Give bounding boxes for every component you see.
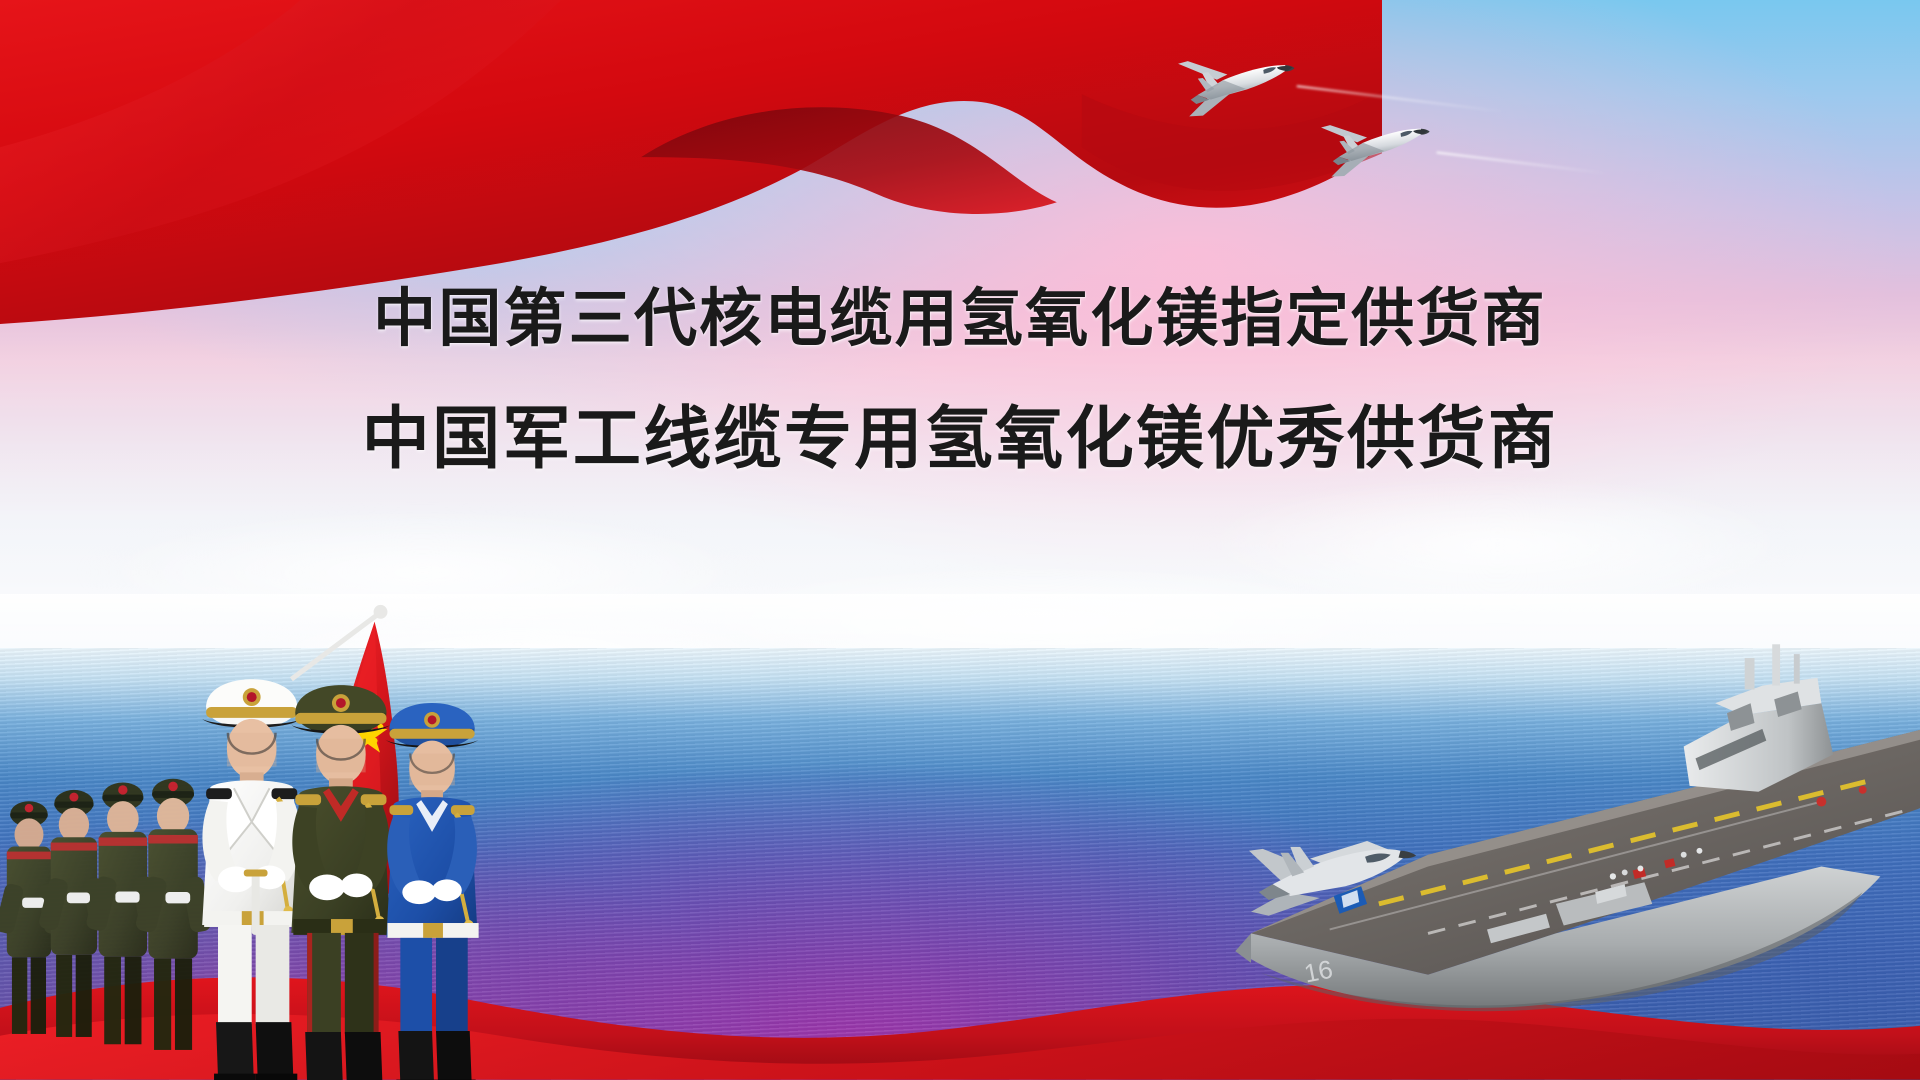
honor-guard-formation <box>0 572 614 1058</box>
banner-title-line-1: 中国第三代核电缆用氢氧化镁指定供货商 <box>0 275 1920 364</box>
airforce-officer-blue <box>385 703 478 1080</box>
svg-text:16: 16 <box>1302 956 1335 989</box>
military-promo-banner: 中国第三代核电缆用氢氧化镁指定供货商 中国军工线缆专用氢氧化镁优秀供货商 <box>0 0 1920 1080</box>
banner-title-line-2: 中国军工线缆专用氢氧化镁优秀供货商 <box>0 391 1920 488</box>
army-flag-bearer-green <box>291 605 399 1080</box>
navy-officer-white <box>202 680 301 1080</box>
aircraft-carrier: 16 <box>1133 567 1920 1064</box>
banner-title-block: 中国第三代核电缆用氢氧化镁指定供货商 中国军工线缆专用氢氧化镁优秀供货商 <box>0 275 1920 487</box>
